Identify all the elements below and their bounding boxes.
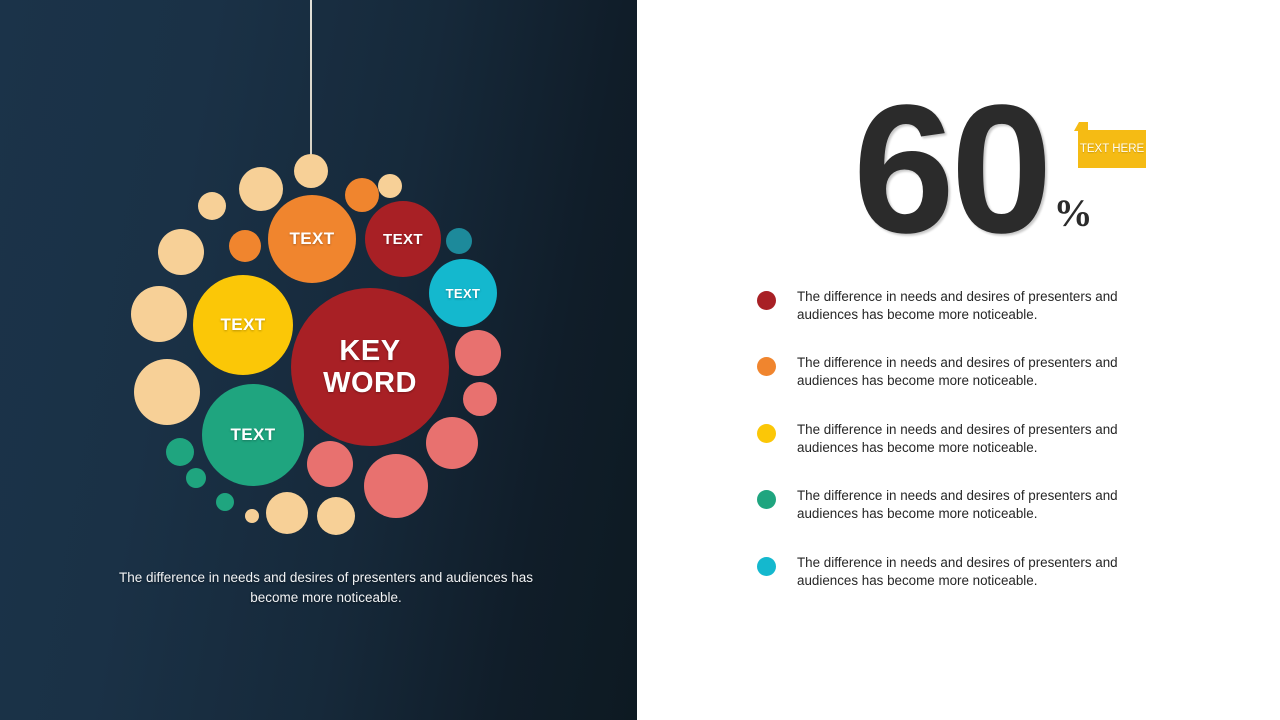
bubble-darkred-text[interactable]: TEXT: [365, 201, 441, 277]
bullet-text-line1: The difference in needs and desires of p…: [797, 288, 1177, 306]
bullet-text-line1: The difference in needs and desires of p…: [797, 421, 1177, 439]
key-word-line1: KEY: [339, 335, 400, 367]
bubble-green-text[interactable]: TEXT: [202, 384, 304, 486]
stat-unit: %: [1054, 191, 1093, 236]
bullet-text-line1: The difference in needs and desires of p…: [797, 487, 1177, 505]
bubble-peach-10: [317, 497, 355, 535]
right-content-panel: 60 % TEXT HERE The difference in needs a…: [637, 0, 1280, 720]
bubble-peach-4: [198, 192, 226, 220]
bubble-pink-4: [463, 382, 497, 416]
bubble-peach-2: [378, 174, 402, 198]
bubble-orange-small-2: [229, 230, 261, 262]
bubble-peach-9: [266, 492, 308, 534]
bullet-text-line2: audiences has become more noticeable.: [797, 439, 1177, 457]
key-word-line2: WORD: [323, 367, 417, 399]
text-here-badge[interactable]: TEXT HERE: [1074, 122, 1146, 168]
bullet-item[interactable]: The difference in needs and desires of p…: [757, 421, 1197, 457]
bullet-dot-icon: [757, 291, 776, 310]
stat-number: 60: [853, 96, 1049, 242]
slide-canvas: KEYWORDTEXTTEXTTEXTTEXTTEXT The differen…: [0, 0, 1280, 720]
bullet-text-line2: audiences has become more noticeable.: [797, 306, 1177, 324]
badge-line1: TEXT: [1080, 143, 1109, 155]
bubble-pink-3: [426, 417, 478, 469]
bullet-text-line2: audiences has become more noticeable.: [797, 372, 1177, 390]
bullet-text: The difference in needs and desires of p…: [797, 288, 1177, 324]
bubble-cyan-text-label: TEXT: [446, 286, 481, 301]
left-caption-line1: The difference in needs and desires of p…: [119, 570, 416, 585]
bubble-yellow-text[interactable]: TEXT: [193, 275, 293, 375]
bubble-yellow-text-label: TEXT: [220, 315, 265, 335]
bullet-item[interactable]: The difference in needs and desires of p…: [757, 554, 1197, 590]
bubble-pink-1: [307, 441, 353, 487]
bullet-text: The difference in needs and desires of p…: [797, 421, 1177, 457]
bullet-text-line1: The difference in needs and desires of p…: [797, 554, 1177, 572]
bubble-peach-6: [131, 286, 187, 342]
bubble-peach-8: [245, 509, 259, 523]
bubble-green-small-2: [186, 468, 206, 488]
bullet-text: The difference in needs and desires of p…: [797, 487, 1177, 523]
bubble-key-word[interactable]: KEYWORD: [291, 288, 449, 446]
left-caption: The difference in needs and desires of p…: [118, 568, 534, 609]
bubble-orange-small-1: [345, 178, 379, 212]
bullet-list: The difference in needs and desires of p…: [757, 288, 1197, 620]
stat-block: 60 %: [853, 96, 1093, 242]
bullet-item[interactable]: The difference in needs and desires of p…: [757, 288, 1197, 324]
bullet-text-line2: audiences has become more noticeable.: [797, 572, 1177, 590]
bullet-text: The difference in needs and desires of p…: [797, 554, 1177, 590]
left-dark-panel: KEYWORDTEXTTEXTTEXTTEXTTEXT The differen…: [0, 0, 637, 720]
bubble-cyan-text[interactable]: TEXT: [429, 259, 497, 327]
bullet-text-line1: The difference in needs and desires of p…: [797, 354, 1177, 372]
badge-line2: HERE: [1112, 143, 1144, 155]
bullet-text: The difference in needs and desires of p…: [797, 354, 1177, 390]
bullet-dot-icon: [757, 424, 776, 443]
bubble-orange-text[interactable]: TEXT: [268, 195, 356, 283]
bullet-dot-icon: [757, 490, 776, 509]
bubble-green-small-1: [166, 438, 194, 466]
bullet-item[interactable]: The difference in needs and desires of p…: [757, 487, 1197, 523]
bullet-text-line2: audiences has become more noticeable.: [797, 505, 1177, 523]
badge-body: TEXT HERE: [1078, 130, 1146, 168]
bubble-cluster-diagram: KEYWORDTEXTTEXTTEXTTEXTTEXT: [0, 0, 637, 560]
bubble-orange-text-label: TEXT: [289, 229, 334, 249]
bubble-peach-1: [294, 154, 328, 188]
bubble-peach-7: [134, 359, 200, 425]
bubble-teal-small: [446, 228, 472, 254]
bullet-dot-icon: [757, 557, 776, 576]
bubble-pink-5: [455, 330, 501, 376]
bubble-pink-2: [364, 454, 428, 518]
bullet-dot-icon: [757, 357, 776, 376]
bubble-green-small-3: [216, 493, 234, 511]
bubble-green-text-label: TEXT: [230, 425, 275, 445]
bullet-item[interactable]: The difference in needs and desires of p…: [757, 354, 1197, 390]
bubble-darkred-text-label: TEXT: [383, 231, 423, 248]
bubble-peach-3: [239, 167, 283, 211]
bubble-peach-5: [158, 229, 204, 275]
